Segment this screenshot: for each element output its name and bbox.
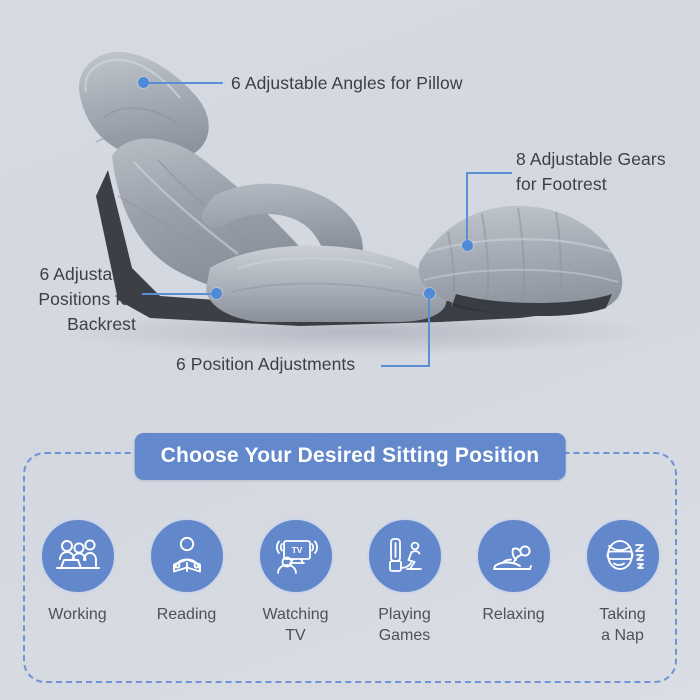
option-label-taking-a-nap: Taking a Nap	[599, 604, 645, 646]
callout-position: 6 Position Adjustments	[176, 352, 355, 377]
option-watching-tv[interactable]: TV Watching TV	[244, 518, 348, 646]
option-relaxing[interactable]: Relaxing	[462, 518, 566, 625]
leader-segment-position-horizontal	[381, 365, 430, 367]
infographic-canvas: 6 Adjustable Angles for Pillow 8 Adjusta…	[0, 0, 700, 700]
callout-backrest: 6 Adjustable Positions for Backrest	[8, 262, 136, 337]
option-label-watching-tv: Watching TV	[262, 604, 328, 646]
sitting-position-options: Working Reading	[23, 518, 677, 646]
leader-dot-pillow	[138, 77, 149, 88]
option-label-watching-reading: Reading	[157, 604, 217, 625]
leader-segment-footrest-horizontal	[466, 172, 512, 174]
callout-footrest: 8 Adjustable Gears for Footrest	[516, 147, 666, 197]
svg-text:TV: TV	[291, 545, 302, 555]
option-taking-a-nap[interactable]: Taking a Nap	[571, 518, 675, 646]
leader-segment-backrest	[142, 293, 213, 295]
callout-pillow: 6 Adjustable Angles for Pillow	[231, 71, 463, 96]
option-playing-games[interactable]: Playing Games	[353, 518, 457, 646]
panel-banner-title: Choose Your Desired Sitting Position	[135, 433, 566, 480]
product-photo: 6 Adjustable Angles for Pillow 8 Adjusta…	[0, 0, 700, 420]
person-sleeping-mask-icon	[585, 518, 661, 594]
option-label-relaxing: Relaxing	[482, 604, 544, 625]
option-working[interactable]: Working	[26, 518, 130, 625]
people-at-laptop-icon	[40, 518, 116, 594]
option-label-playing-games: Playing Games	[378, 604, 430, 646]
person-relaxing-icon	[476, 518, 552, 594]
leader-segment-position-vertical	[428, 294, 430, 366]
option-reading[interactable]: Reading	[135, 518, 239, 625]
person-reading-book-icon	[149, 518, 225, 594]
option-label-working: Working	[48, 604, 106, 625]
person-watching-tv-icon: TV	[258, 518, 334, 594]
person-playing-games-icon	[367, 518, 443, 594]
leader-segment-pillow	[149, 82, 223, 84]
leader-segment-footrest-vertical	[466, 172, 468, 242]
